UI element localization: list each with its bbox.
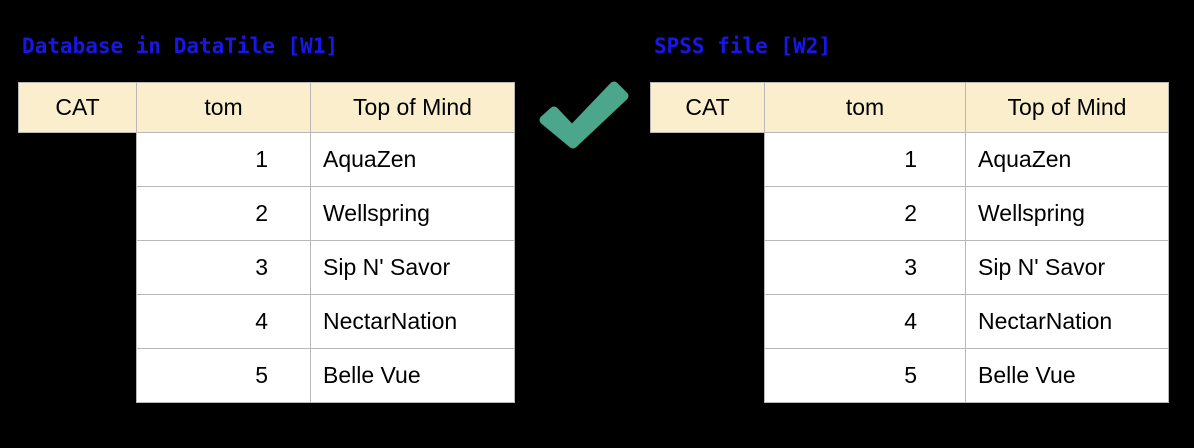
panel-spss-file: SPSS file [W2] CAT tom Top of Mind 1 Aqu… <box>630 0 1194 448</box>
column-header-cat[interactable]: CAT <box>651 83 765 133</box>
cell-tom: 3 <box>137 241 311 295</box>
table-row[interactable]: 1 AquaZen <box>19 133 515 187</box>
cell-cat <box>19 133 137 187</box>
cell-tom: 2 <box>765 187 966 241</box>
cell-top-of-mind: Belle Vue <box>311 349 515 403</box>
cell-tom: 2 <box>137 187 311 241</box>
check-icon <box>538 80 630 150</box>
cell-tom: 4 <box>137 295 311 349</box>
table-database-in-datatile: CAT tom Top of Mind 1 AquaZen 2 Wellspri… <box>18 82 515 403</box>
cell-top-of-mind: Belle Vue <box>966 349 1169 403</box>
cell-cat <box>651 241 765 295</box>
table-row[interactable]: 2 Wellspring <box>19 187 515 241</box>
cell-cat <box>651 133 765 187</box>
table-header-left: CAT tom Top of Mind <box>19 83 515 133</box>
cell-top-of-mind: Sip N' Savor <box>966 241 1169 295</box>
cell-top-of-mind: AquaZen <box>966 133 1169 187</box>
table-body-left: 1 AquaZen 2 Wellspring 3 Sip N' Savor 4 … <box>19 133 515 403</box>
cell-cat <box>651 349 765 403</box>
cell-top-of-mind: NectarNation <box>311 295 515 349</box>
table-row[interactable]: 4 NectarNation <box>651 295 1169 349</box>
cell-cat <box>651 295 765 349</box>
cell-cat <box>651 187 765 241</box>
column-header-top-of-mind[interactable]: Top of Mind <box>966 83 1169 133</box>
column-header-tom[interactable]: tom <box>137 83 311 133</box>
table-row[interactable]: 2 Wellspring <box>651 187 1169 241</box>
panel-database-in-datatile: Database in DataTile [W1] CAT tom Top of… <box>0 0 530 448</box>
cell-tom: 1 <box>137 133 311 187</box>
cell-top-of-mind: Sip N' Savor <box>311 241 515 295</box>
cell-top-of-mind: NectarNation <box>966 295 1169 349</box>
panel-title-right: SPSS file [W2] <box>654 36 831 57</box>
table-body-right: 1 AquaZen 2 Wellspring 3 Sip N' Savor 4 … <box>651 133 1169 403</box>
cell-tom: 5 <box>137 349 311 403</box>
cell-top-of-mind: Wellspring <box>311 187 515 241</box>
column-header-tom[interactable]: tom <box>765 83 966 133</box>
cell-tom: 5 <box>765 349 966 403</box>
panel-title-left: Database in DataTile [W1] <box>22 36 338 57</box>
cell-tom: 1 <box>765 133 966 187</box>
cell-cat <box>19 295 137 349</box>
column-header-cat[interactable]: CAT <box>19 83 137 133</box>
table-header-row: CAT tom Top of Mind <box>19 83 515 133</box>
table-row[interactable]: 4 NectarNation <box>19 295 515 349</box>
column-header-top-of-mind[interactable]: Top of Mind <box>311 83 515 133</box>
cell-cat <box>19 349 137 403</box>
table-header-row: CAT tom Top of Mind <box>651 83 1169 133</box>
cell-top-of-mind: AquaZen <box>311 133 515 187</box>
table-spss-file: CAT tom Top of Mind 1 AquaZen 2 Wellspri… <box>650 82 1169 403</box>
cell-cat <box>19 187 137 241</box>
table-row[interactable]: 5 Belle Vue <box>651 349 1169 403</box>
cell-tom: 4 <box>765 295 966 349</box>
table-header-right: CAT tom Top of Mind <box>651 83 1169 133</box>
table-row[interactable]: 3 Sip N' Savor <box>651 241 1169 295</box>
table-row[interactable]: 5 Belle Vue <box>19 349 515 403</box>
table-row[interactable]: 3 Sip N' Savor <box>19 241 515 295</box>
table-row[interactable]: 1 AquaZen <box>651 133 1169 187</box>
cell-top-of-mind: Wellspring <box>966 187 1169 241</box>
cell-cat <box>19 241 137 295</box>
cell-tom: 3 <box>765 241 966 295</box>
